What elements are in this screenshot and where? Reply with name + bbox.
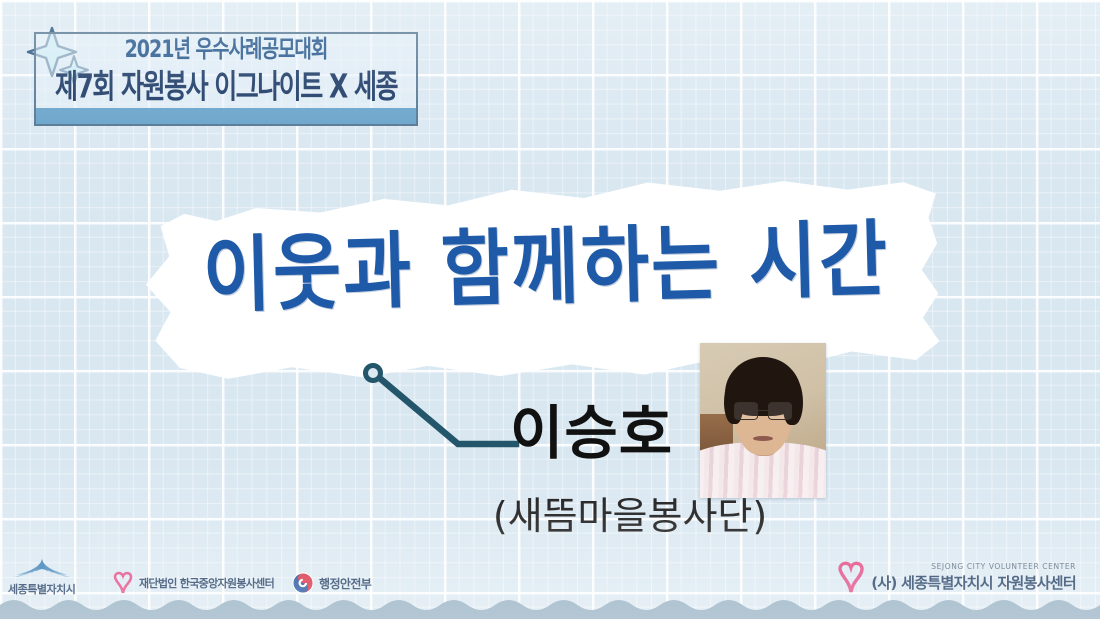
logo-mois-label: 행정안전부 <box>319 575 371 592</box>
banner-title: 제7회 자원봉사 이그나이트 X 세종 <box>34 70 418 104</box>
logo-sejong-city: 세종특별자치시 <box>8 558 75 597</box>
speaker-connector-line <box>358 358 533 458</box>
logo-kcvc-label: 재단법인 한국중앙자원봉사센터 <box>139 575 274 591</box>
heart-mark-icon <box>836 560 866 594</box>
page-title: 이웃과 함께하는 시간 <box>145 217 947 319</box>
speaker-organization: (새뜸마을봉사단) <box>430 496 830 538</box>
logo-sejong-city-volunteer-center: SEJONG CITY VOLUNTEER CENTER (사) 세종특별자치시… <box>836 560 1076 594</box>
logo-scvc-korean-label: (사) 세종특별자치시 자원봉사센터 <box>871 572 1076 593</box>
heart-mark-icon <box>112 571 134 595</box>
title-paper-block: 이웃과 함께하는 시간 <box>146 183 946 383</box>
logo-korea-central-volunteer-center: 재단법인 한국중앙자원봉사센터 <box>112 571 274 595</box>
speaker-name: 이승호 <box>510 404 710 462</box>
logo-ministry-of-interior-and-safety: 행정안전부 <box>292 572 371 594</box>
banner-subtitle: 2021년 우수사례공모대회 <box>34 37 418 63</box>
event-banner: 2021년 우수사례공모대회 제7회 자원봉사 이그나이트 X 세종 <box>18 26 418 121</box>
speaker-portrait <box>700 343 826 498</box>
logo-scvc-english-label: SEJONG CITY VOLUNTEER CENTER <box>871 562 1076 571</box>
banner-bottom-bar <box>34 108 418 126</box>
footer-wave-border <box>0 595 1100 619</box>
taegeuk-icon <box>292 572 314 594</box>
slide-canvas: 2021년 우수사례공모대회 제7회 자원봉사 이그나이트 X 세종 이웃과 함… <box>0 0 1100 619</box>
sejong-wing-icon <box>13 558 71 580</box>
footer-logo-bar: 세종특별자치시 재단법인 한국중앙자원봉사센터 행정안전부 SEJONG CIT… <box>0 545 1100 619</box>
